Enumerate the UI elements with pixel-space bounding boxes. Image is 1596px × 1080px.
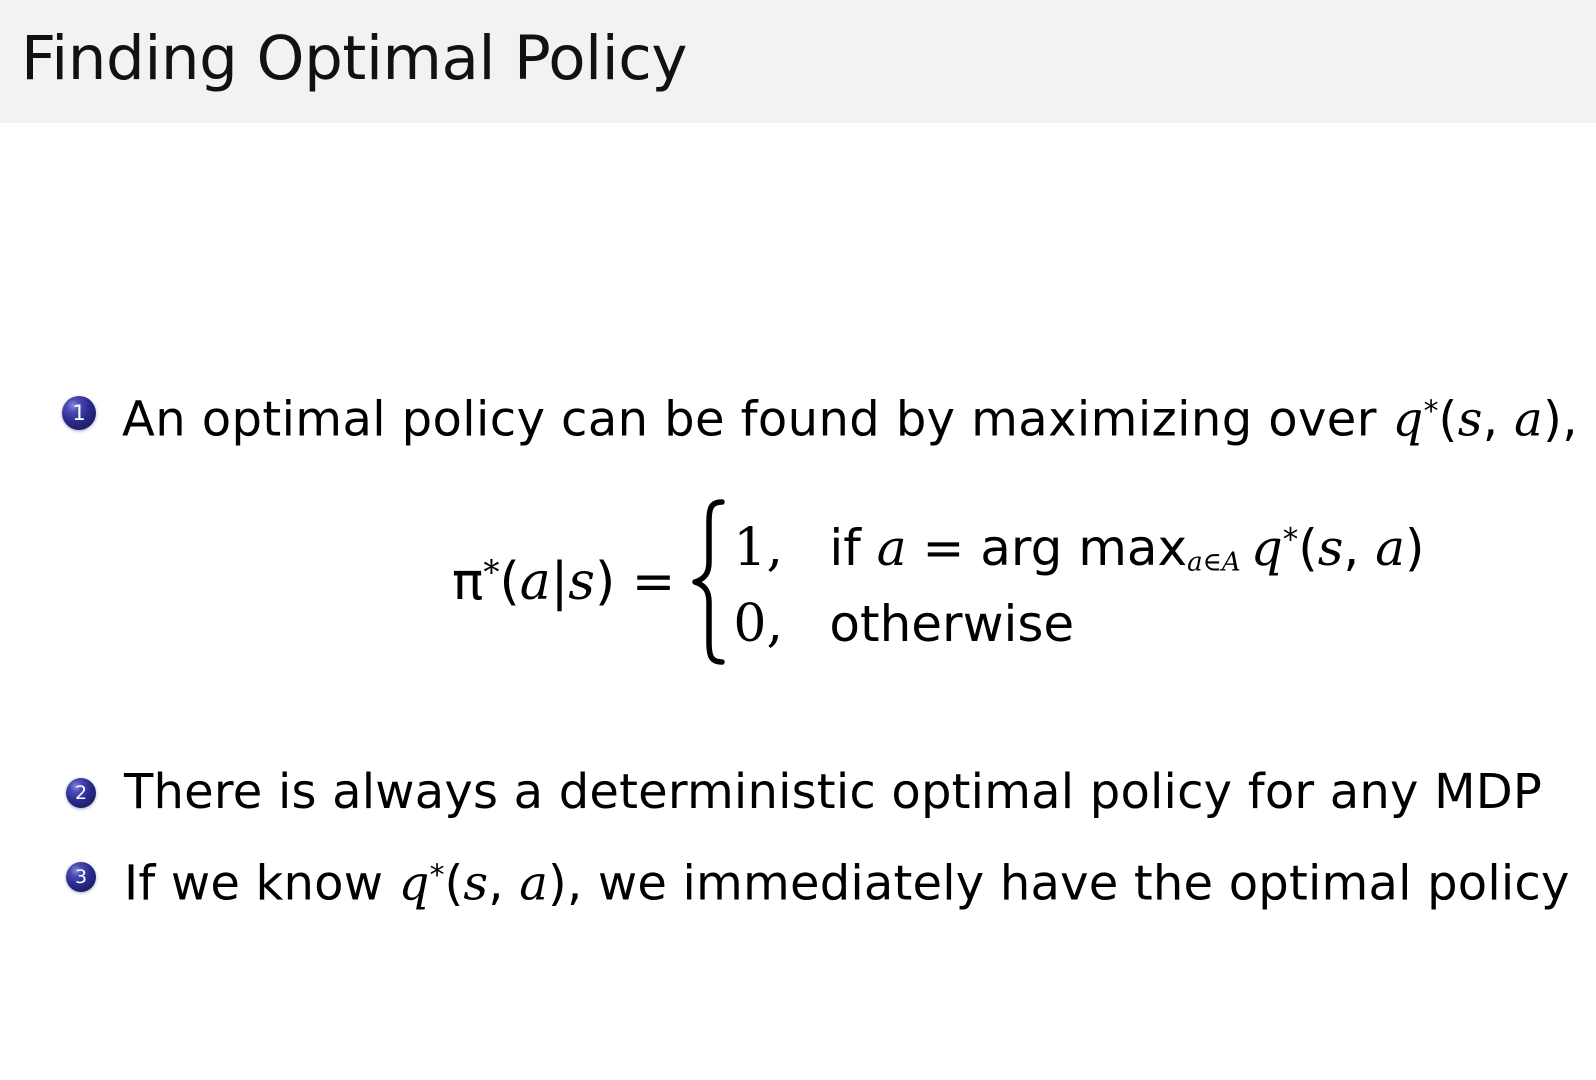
equation-cases: 1, if a = arg maxa∈Aq*(s, a) 0, otherwis…: [733, 498, 1424, 666]
math-comma: ,: [1343, 519, 1375, 577]
math-a: a: [520, 552, 551, 612]
case-condition: otherwise: [829, 582, 1074, 666]
enum-marker-2: 2: [66, 778, 96, 808]
math-paren-open: (: [1298, 519, 1318, 577]
display-equation: π*(a|s) = 1, if a = arg maxa∈Aq*(s, a) 0…: [0, 498, 1596, 666]
equation-case-row: 1, if a = arg maxa∈Aq*(s, a): [733, 498, 1424, 582]
list-item: 2 There is always a deterministic optima…: [66, 761, 1542, 823]
math-paren-open: (: [444, 855, 463, 911]
cond-if: if: [829, 519, 876, 577]
math-s: s: [1458, 391, 1483, 447]
list-item-trail: ,: [1562, 391, 1578, 447]
equation-case-row: 0, otherwise: [733, 582, 1424, 666]
math-paren-open: (: [499, 552, 519, 612]
page-title: Finding Optimal Policy: [21, 23, 687, 95]
math-q: q: [399, 855, 430, 911]
math-a: a: [519, 855, 548, 911]
math-paren-open: (: [1439, 391, 1458, 447]
list-item-text: There is always a deterministic optimal …: [124, 761, 1542, 823]
math-given-bar: |: [551, 552, 569, 612]
math-a: a: [1514, 391, 1543, 447]
math-star-icon: *: [1283, 522, 1299, 558]
math-argmax-subscript: a∈A: [1187, 548, 1241, 578]
math-comma: ,: [488, 855, 519, 911]
list-item: 1 An optimal policy can be found by maxi…: [62, 381, 1578, 450]
list-item-trail: , we immediately have the optimal policy: [567, 855, 1570, 911]
math-paren-close: ): [595, 552, 615, 612]
math-s: s: [568, 552, 595, 612]
math-pi: π: [452, 552, 483, 612]
math-equals: =: [615, 552, 675, 612]
math-equals: =: [907, 519, 981, 577]
list-item-text: If we know q*(s, a), we immediately have…: [124, 845, 1570, 914]
list-item: 3 If we know q*(s, a), we immediately ha…: [66, 845, 1570, 914]
list-item-text: An optimal policy can be found by maximi…: [122, 381, 1578, 450]
math-q: q: [1393, 391, 1424, 447]
enum-marker-1: 1: [62, 396, 96, 430]
math-comma: ,: [1483, 391, 1514, 447]
equation-lhs: π*(a|s) =: [452, 556, 675, 608]
enum-marker-3: 3: [66, 862, 96, 892]
math-paren-close: ): [548, 855, 567, 911]
list-item-lead: If we know: [124, 855, 399, 911]
math-s: s: [1318, 519, 1344, 577]
math-star-icon: *: [1424, 394, 1439, 429]
math-s: s: [463, 855, 488, 911]
math-q: q: [1251, 519, 1283, 577]
math-star-icon: *: [430, 858, 445, 893]
left-curly-brace-icon: [689, 498, 729, 666]
math-a: a: [1375, 519, 1405, 577]
slide-header: Finding Optimal Policy: [0, 0, 1596, 123]
math-paren-close: ): [1405, 519, 1425, 577]
list-item-lead: An optimal policy can be found by maximi…: [122, 391, 1393, 447]
math-argmax: arg max: [980, 519, 1187, 577]
math-star-icon: *: [483, 554, 499, 592]
math-a: a: [877, 519, 907, 577]
case-value: 1,: [733, 506, 829, 590]
case-value: 0,: [733, 582, 829, 666]
math-paren-close: ): [1543, 391, 1562, 447]
slide-body: 1 An optimal policy can be found by maxi…: [0, 123, 1596, 1080]
